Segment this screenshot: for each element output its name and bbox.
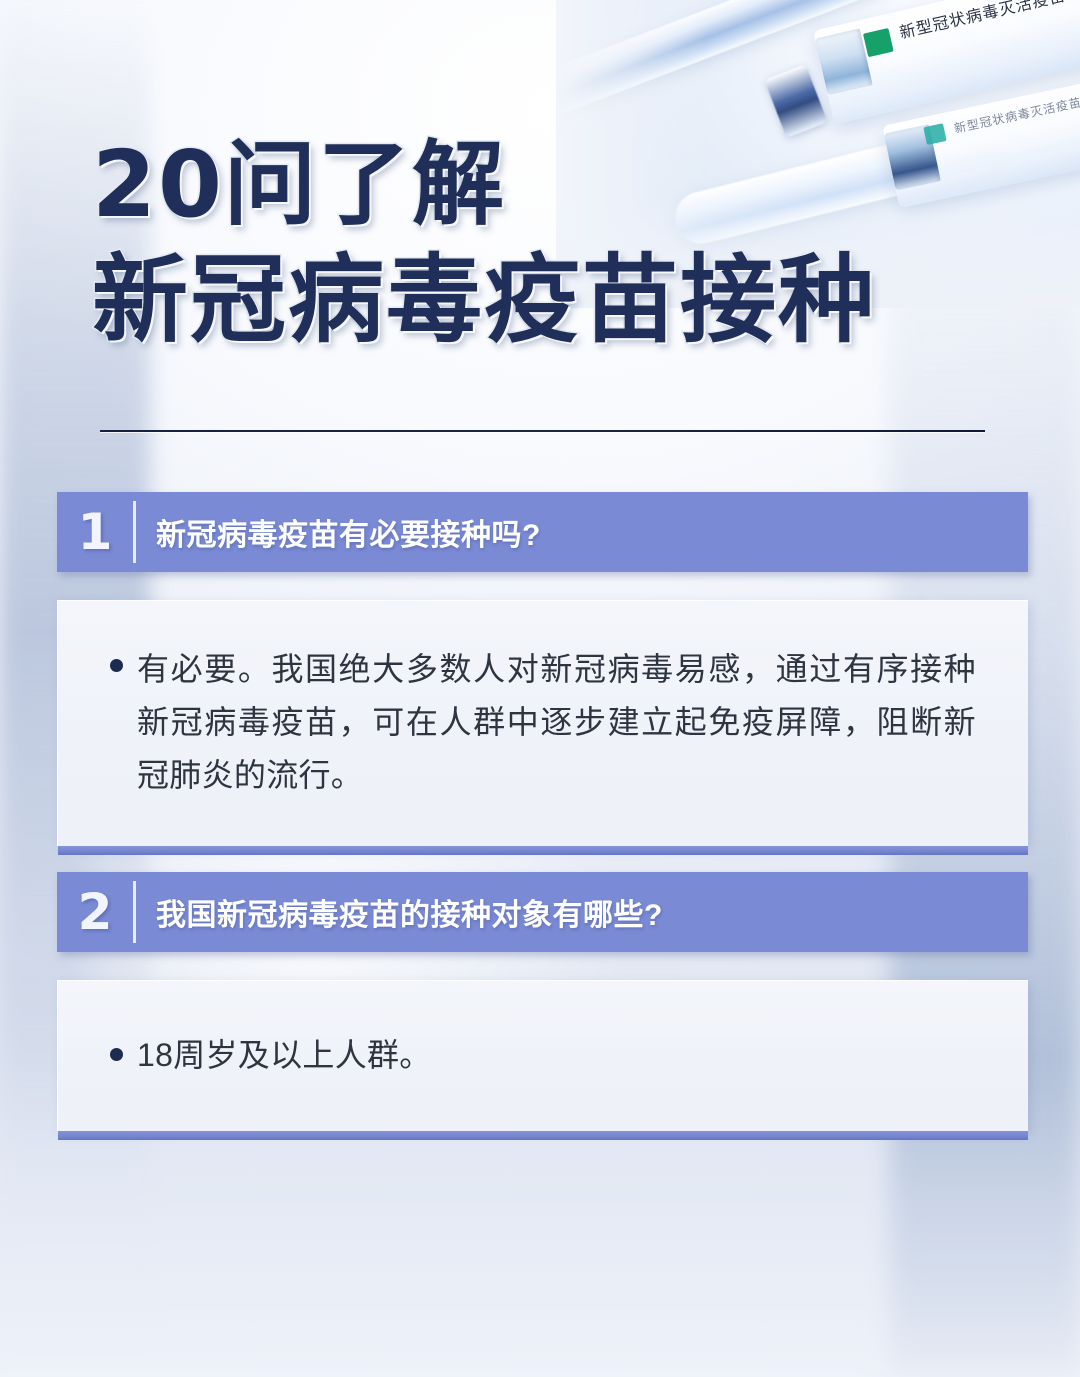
vial-label-primary: 新型冠状病毒灭活疫苗: [897, 0, 1080, 47]
page-title: 20问了解 新冠病毒疫苗接种: [92, 138, 972, 350]
qa-item-2: 2 我国新冠病毒疫苗的接种对象有哪些? 18周岁及以上人群。: [57, 872, 1028, 1131]
qa-list: 1 新冠病毒疫苗有必要接种吗? 有必要。我国绝大多数人对新冠病毒易感，通过有序接…: [57, 492, 1028, 1157]
title-line-primary: 20问了解: [92, 138, 972, 232]
answer-text-1: 有必要。我国绝大多数人对新冠病毒易感，通过有序接种新冠病毒疫苗，可在人群中逐步建…: [137, 643, 976, 802]
answer-card-1: 有必要。我国绝大多数人对新冠病毒易感，通过有序接种新冠病毒疫苗，可在人群中逐步建…: [57, 600, 1028, 846]
question-separator: [133, 881, 136, 943]
bullet-icon: [110, 1048, 123, 1061]
title-line-secondary: 新冠病毒疫苗接种: [92, 252, 972, 350]
answer-text-2: 18周岁及以上人群。: [137, 1033, 976, 1077]
question-number-1: 1: [57, 492, 133, 572]
answer-list-item: 有必要。我国绝大多数人对新冠病毒易感，通过有序接种新冠病毒疫苗，可在人群中逐步建…: [110, 643, 976, 802]
infographic-poster: 新型冠状病毒灭活疫苗 新型冠状病毒灭活疫苗 20问了解 新冠病毒疫苗接种 1 新…: [0, 0, 1080, 1377]
question-text-2: 我国新冠病毒疫苗的接种对象有哪些?: [136, 872, 1028, 952]
answer-list-item: 18周岁及以上人群。: [110, 1033, 976, 1077]
vial-green-marker: [863, 28, 894, 57]
bullet-icon: [110, 659, 123, 672]
answer-body-2: 18周岁及以上人群。: [58, 981, 1028, 1131]
question-bar-1[interactable]: 1 新冠病毒疫苗有必要接种吗?: [57, 492, 1028, 572]
answer-body-1: 有必要。我国绝大多数人对新冠病毒易感，通过有序接种新冠病毒疫苗，可在人群中逐步建…: [58, 601, 1028, 846]
title-divider: [100, 430, 985, 432]
qa-item-1: 1 新冠病毒疫苗有必要接种吗? 有必要。我国绝大多数人对新冠病毒易感，通过有序接…: [57, 492, 1028, 846]
answer-card-2: 18周岁及以上人群。: [57, 980, 1028, 1131]
question-separator: [133, 501, 136, 563]
question-text-1: 新冠病毒疫苗有必要接种吗?: [136, 492, 1028, 572]
question-number-2: 2: [57, 872, 133, 952]
question-bar-2[interactable]: 2 我国新冠病毒疫苗的接种对象有哪些?: [57, 872, 1028, 952]
